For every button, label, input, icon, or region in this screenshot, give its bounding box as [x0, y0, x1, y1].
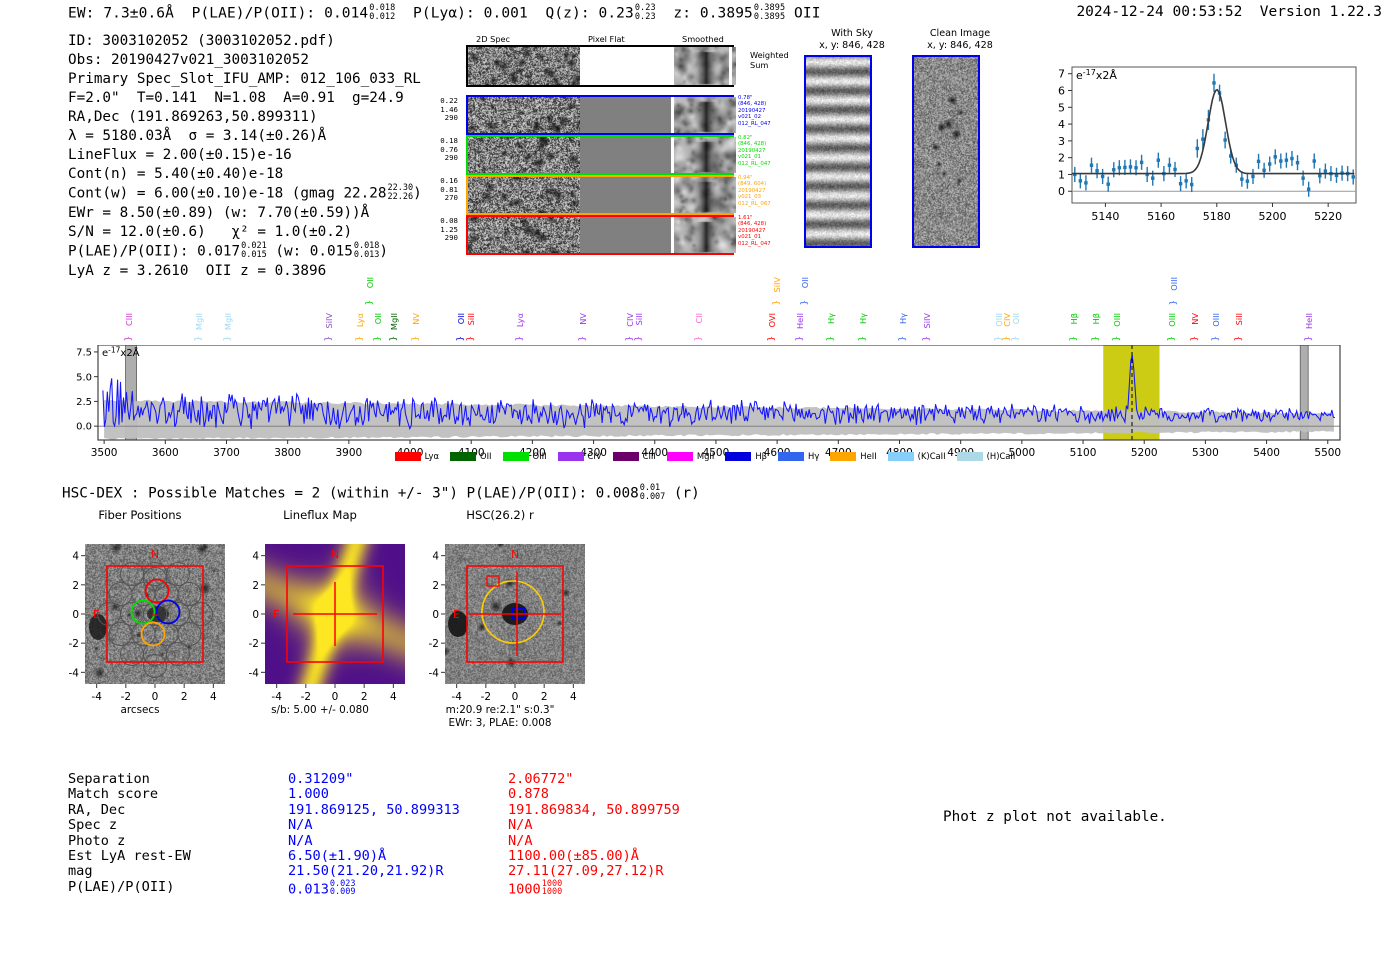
panel-image: -4-2024420-2-4NE	[235, 522, 415, 708]
header-z-lo: 0.3895	[754, 12, 785, 22]
legend-swatch	[558, 452, 584, 461]
full-spectrum-plot: CIII}MgII}MgII}SiIV}Lyα}OII}OII}MgII}NV}…	[60, 275, 1350, 475]
line-brace-icon: }	[355, 336, 365, 341]
hsc-summary-pre: HSC-DEX : Possible Matches = 2 (within +…	[62, 486, 639, 502]
svg-text:4: 4	[72, 551, 79, 563]
montage-row-info-4: 012_RL_047	[738, 161, 784, 167]
info-cont-w-text: Cont(w) = 6.00(±0.10)e-18 (gmag 22.28	[68, 186, 386, 202]
svg-text:-2: -2	[249, 638, 259, 650]
cutout-coords: x, y: 846, 428	[900, 40, 1020, 52]
legend-swatch	[613, 452, 639, 461]
line-brace-icon: }	[124, 336, 134, 341]
line-label-oiii: OIII	[1211, 313, 1221, 327]
line-brace-icon: }	[772, 300, 782, 305]
line-label-oiii: OIII	[1167, 313, 1177, 327]
svg-text:0: 0	[432, 609, 439, 621]
table-row-key: RA, Dec	[68, 803, 125, 818]
spectrum-legend: LyαOIIOIIICIVCIIIMgIIHβHγHeII(K)CaII(H)C…	[60, 451, 1350, 461]
line-label-mgii: MgII	[389, 313, 399, 330]
row-pixelflat	[580, 97, 674, 133]
line-brace-icon: }	[389, 336, 399, 341]
twod-spectra-montage: 2D Spec Pixel Flat Smoothed Weighted Sum…	[430, 34, 800, 249]
line-brace-icon: }	[1190, 336, 1200, 341]
svg-text:5.0: 5.0	[76, 372, 92, 383]
svg-text:e-17x2Å: e-17x2Å	[1076, 68, 1117, 82]
table-row-match1: N/A	[288, 834, 313, 849]
table-row-match2: 1100.00(±85.00)Å	[508, 849, 639, 864]
line-label-nv: NV	[1190, 313, 1200, 325]
row-smoothed	[674, 137, 736, 173]
line-label-oiii: OIII	[1112, 313, 1122, 327]
table-c2-lo: 1000	[542, 887, 562, 897]
table-row-match1: 191.869125, 50.899313	[288, 803, 460, 818]
line-label-hγ: Hγ	[898, 313, 908, 324]
weighted-sum-divider	[671, 47, 674, 85]
line-brace-icon: }	[223, 336, 233, 341]
info-id: ID: 3003102052 (3003102052.pdf)	[68, 32, 422, 51]
svg-text:N: N	[151, 549, 159, 561]
svg-text:-2: -2	[121, 691, 131, 703]
line-label-oiii: OIII	[1169, 277, 1179, 291]
line-brace-icon: }	[1011, 336, 1021, 341]
legend-swatch	[888, 452, 914, 461]
montage-row-info: 0.78"(846, 428)20190427v021_02012_RL_047	[738, 95, 784, 127]
line-brace-icon: }	[515, 336, 525, 341]
header-qz-lo: 0.23	[635, 12, 656, 22]
svg-text:-2: -2	[301, 691, 311, 703]
legend-item: Hγ	[778, 451, 819, 461]
info-primary-spec: Primary Spec_Slot_IFU_AMP: 012_106_033_R…	[68, 70, 422, 89]
cutout-panels: Fiber Positions-4-2024420-2-4NEarcsecsLi…	[55, 508, 635, 733]
table-row-match1: 0.31209"	[288, 772, 353, 787]
header-z-type: OII	[794, 6, 821, 22]
line-label-hβ: Hβ	[1091, 313, 1101, 324]
cutout-title-text: With Sky	[792, 28, 912, 40]
row-pixelflat	[580, 137, 674, 173]
info-plae-w-lo: 0.013	[354, 250, 380, 260]
legend-item: MgII	[667, 451, 714, 461]
svg-text:5160: 5160	[1147, 210, 1175, 223]
line-label-heii: HeII	[795, 313, 805, 329]
legend-swatch	[503, 452, 529, 461]
row-2dspec	[468, 137, 580, 173]
montage-row	[466, 215, 734, 255]
line-label-ciii: CIII	[124, 313, 134, 326]
info-ewr: EWr = 8.50(±0.89) (w: 7.70(±0.59))Å	[68, 204, 422, 223]
svg-text:-4: -4	[271, 691, 282, 703]
svg-text:0: 0	[72, 609, 79, 621]
svg-text:-4: -4	[91, 691, 102, 703]
legend-label: (H)CaII	[987, 451, 1016, 461]
svg-text:2: 2	[252, 580, 259, 592]
table-row-match2: 191.869834, 50.899759	[508, 803, 680, 818]
legend-swatch	[395, 452, 421, 461]
legend-swatch	[957, 452, 983, 461]
emission-line-zoom-plot: 5140516051805200522001234567e-17x2Å	[1030, 45, 1370, 245]
montage-row-stat-2: 270	[432, 194, 458, 203]
weighted-sum-right-divider	[729, 47, 732, 85]
svg-text:0.0: 0.0	[76, 422, 92, 433]
header-qz-label: Q(z):	[546, 6, 590, 22]
row-divider	[671, 177, 674, 213]
version: Version 1.22.3	[1260, 4, 1382, 20]
montage-row-info-4: 012_RL_067	[738, 201, 784, 207]
montage-row-stat-2: 290	[432, 234, 458, 243]
montage-row-info: 0.94"(849, 604)20190427v021_03012_RL_067	[738, 175, 784, 207]
info-radec: RA,Dec (191.869263,50.899311)	[68, 108, 422, 127]
panel-caption-line1: s/b: 5.00 +/- 0.080	[235, 704, 405, 717]
weighted-sum-smoothed	[674, 47, 736, 85]
panel-caption-line1: m:20.9 re:2.1" s:0.3"	[415, 704, 585, 717]
line-brace-icon: }	[826, 336, 836, 341]
line-label-siiv: SiIV	[324, 313, 334, 329]
svg-text:5180: 5180	[1203, 210, 1231, 223]
line-label-ovi: OVI	[767, 313, 777, 327]
cutout-title-text: Clean Image	[900, 28, 1020, 40]
row-smoothed	[674, 97, 736, 133]
legend-label: MgII	[697, 451, 714, 461]
line-label-hγ: Hγ	[826, 313, 836, 324]
row-2dspec	[468, 177, 580, 213]
info-lambda-sigma: λ = 5180.03Å σ = 3.14(±0.26)Å	[68, 127, 422, 146]
svg-text:2.5: 2.5	[76, 397, 92, 408]
table-row-match2: 2.06772"	[508, 772, 573, 787]
montage-row-info: 1.61"(846, 428)20190427v021_01012_RL_047	[738, 215, 784, 247]
montage-row-stat-2: 290	[432, 154, 458, 163]
table-row-match2: 0.878	[508, 787, 549, 802]
line-brace-icon: }	[858, 336, 868, 341]
svg-text:7: 7	[1058, 68, 1065, 81]
svg-text:2: 2	[72, 580, 79, 592]
line-label-hγ: Hγ	[858, 313, 868, 324]
hsc-dex-summary: HSC-DEX : Possible Matches = 2 (within +…	[62, 484, 700, 502]
photz-note: Phot z plot not available.	[943, 809, 1167, 825]
table-row-match1: 21.50(21.20,21.92)R	[288, 864, 444, 879]
line-label-siii: SiII	[1234, 313, 1244, 325]
line-label-cii: CII	[694, 313, 704, 324]
svg-text:-2: -2	[481, 691, 491, 703]
montage-row-info-4: 012_RL_047	[738, 241, 784, 247]
legend-item: OIII	[503, 451, 547, 461]
line-brace-icon: }	[456, 336, 466, 341]
svg-text:2: 2	[1058, 152, 1065, 165]
info-params: F=2.0" T=0.141 N=1.08 A=0.91 g=24.9	[68, 89, 422, 108]
line-brace-icon: }	[795, 336, 805, 341]
info-plae-pre: P(LAE)/P(OII): 0.017	[68, 244, 240, 260]
panel-title: Fiber Positions	[55, 508, 225, 522]
svg-text:5: 5	[1058, 101, 1065, 114]
line-label-lyα: Lyα	[515, 313, 525, 327]
line-brace-icon: }	[324, 336, 334, 341]
svg-text:2: 2	[541, 691, 548, 703]
montage-weighted-sum-label: Weighted Sum	[750, 51, 789, 70]
legend-label: OIII	[533, 451, 547, 461]
panel-image: -4-2024420-2-4NE	[55, 522, 235, 708]
line-brace-icon: }	[1112, 336, 1122, 341]
montage-row	[466, 95, 734, 135]
row-smoothed	[674, 217, 736, 253]
table-row-key: mag	[68, 864, 93, 879]
legend-label: CIII	[643, 451, 656, 461]
info-gmag-lo: 22.26	[387, 192, 413, 202]
line-label-mgii: MgII	[223, 313, 233, 330]
svg-text:e-17x2Å: e-17x2Å	[102, 346, 140, 360]
line-brace-icon: }	[365, 300, 375, 305]
legend-label: Hβ	[755, 451, 767, 461]
montage-row-stat-2: 290	[432, 114, 458, 123]
header-plya: P(Lyα): 0.001	[413, 6, 528, 22]
panel-title: Lineflux Map	[235, 508, 405, 522]
header-qz-value: 0.23	[599, 6, 634, 22]
legend-item: CIII	[613, 451, 656, 461]
svg-text:N: N	[331, 549, 339, 561]
line-brace-icon: }	[411, 336, 421, 341]
table-row-match1: 6.50(±1.90)Å	[288, 849, 386, 864]
line-brace-icon: }	[194, 336, 204, 341]
legend-label: Hγ	[808, 451, 819, 461]
legend-item: OII	[450, 451, 492, 461]
header-summary: EW: 7.3±0.6Å P(LAE)/P(OII): 0.0140.0180.…	[68, 4, 821, 22]
cutout-coords: x, y: 846, 428	[792, 40, 912, 52]
weighted-sum-line2: Sum	[750, 61, 789, 71]
montage-row-info-4: 012_RL_047	[738, 121, 784, 127]
line-label-oii: OII	[365, 277, 375, 288]
montage-col-pixelflat: Pixel Flat	[588, 34, 625, 44]
header-plae-lo: 0.012	[369, 12, 395, 22]
line-brace-icon: }	[1234, 336, 1244, 341]
info-plae-lo: 0.015	[241, 250, 267, 260]
info-lineflux: LineFlux = 2.00(±0.15)e-16	[68, 146, 422, 165]
row-pixelflat	[580, 217, 674, 253]
legend-item: CIV	[558, 451, 602, 461]
svg-text:-4: -4	[249, 667, 260, 679]
legend-label: OII	[480, 451, 492, 461]
info-plae-post: )	[379, 244, 388, 260]
panel-image: -4-2024420-2-4NE	[415, 522, 595, 708]
montage-weighted-sum-row	[466, 45, 734, 87]
row-2dspec	[468, 217, 580, 253]
svg-text:-2: -2	[429, 638, 439, 650]
montage-row	[466, 135, 734, 175]
cutout-image	[912, 55, 980, 248]
legend-swatch	[667, 452, 693, 461]
line-label-siii: SiII	[634, 313, 644, 325]
info-plae-mid: (w: 0.015	[275, 244, 352, 260]
legend-item: Lyα	[395, 451, 439, 461]
legend-item: Hβ	[725, 451, 767, 461]
svg-text:E: E	[93, 609, 100, 621]
timestamp: 2024-12-24 00:53:52	[1076, 4, 1242, 20]
object-info-block: ID: 3003102052 (3003102052.pdf) Obs: 201…	[68, 32, 422, 281]
cutout-image	[804, 55, 872, 248]
panel-caption-line2: EWr: 3, PLAE: 0.008	[415, 717, 585, 730]
panel-caption: s/b: 5.00 +/- 0.080	[235, 704, 405, 717]
legend-item: (H)CaII	[957, 451, 1016, 461]
legend-item: (K)CaII	[888, 451, 946, 461]
hsc-summary-post: (r)	[674, 486, 700, 502]
table-c1-lo: 0.009	[330, 887, 356, 897]
table-row-key: Est LyA rest-EW	[68, 849, 191, 864]
legend-item: HeII	[830, 451, 876, 461]
line-brace-icon: }	[898, 336, 908, 341]
legend-swatch	[830, 452, 856, 461]
montage-row-stats: 0.180.76290	[432, 137, 458, 163]
svg-text:5200: 5200	[1258, 210, 1286, 223]
line-brace-icon: }	[634, 336, 644, 341]
table-row-key: P(LAE)/P(OII)	[68, 880, 174, 895]
svg-text:N: N	[511, 549, 519, 561]
svg-text:1: 1	[1058, 168, 1065, 181]
table-row-match1: N/A	[288, 818, 313, 833]
line-label-nv: NV	[578, 313, 588, 325]
sky-cutouts: With Skyx, y: 846, 428Clean Imagex, y: 8…	[800, 28, 1030, 253]
header-timestamp-version: 2024-12-24 00:53:52 Version 1.22.3	[1076, 4, 1382, 20]
cutout-title: Clean Imagex, y: 846, 428	[900, 28, 1020, 51]
line-label-lyα: Lyα	[355, 313, 365, 327]
info-cont-n: Cont(n) = 5.40(±0.40)e-18	[68, 165, 422, 184]
svg-text:-4: -4	[69, 667, 80, 679]
svg-text:7.5: 7.5	[76, 348, 92, 359]
line-label-siiv: SiIV	[922, 313, 932, 329]
line-brace-icon: }	[466, 336, 476, 341]
table-row-key: Spec z	[68, 818, 117, 833]
line-brace-icon: }	[578, 336, 588, 341]
svg-text:6: 6	[1058, 85, 1065, 98]
svg-text:4: 4	[570, 691, 577, 703]
info-obs: Obs: 20190427v021_3003102052	[68, 51, 422, 70]
info-cont-w: Cont(w) = 6.00(±0.10)e-18 (gmag 22.2822.…	[68, 184, 422, 204]
table-row-match2: N/A	[508, 834, 533, 849]
svg-text:0: 0	[332, 691, 339, 703]
svg-text:0: 0	[512, 691, 519, 703]
row-divider	[671, 137, 674, 173]
svg-text:-4: -4	[451, 691, 462, 703]
legend-label: CIV	[588, 451, 602, 461]
table-row-match2: 100010001000	[508, 880, 562, 898]
line-brace-icon: }	[800, 300, 810, 305]
montage-row-stats: 0.160.81270	[432, 177, 458, 203]
svg-text:0: 0	[152, 691, 159, 703]
table-row-key: Photo z	[68, 834, 125, 849]
svg-text:4: 4	[432, 551, 439, 563]
table-row-key: Match score	[68, 787, 158, 802]
svg-text:E: E	[273, 609, 280, 621]
legend-swatch	[725, 452, 751, 461]
line-label-oii: OII	[1011, 313, 1021, 324]
legend-swatch	[450, 452, 476, 461]
header-plae-value: 0.014	[324, 6, 368, 22]
svg-text:0: 0	[1058, 185, 1065, 198]
svg-text:2: 2	[432, 580, 439, 592]
line-brace-icon: }	[922, 336, 932, 341]
line-label-siii: SiII	[466, 313, 476, 325]
legend-label: (K)CaII	[918, 451, 946, 461]
line-label-oii: OII	[456, 313, 466, 324]
header-ew: EW: 7.3±0.6Å	[68, 6, 174, 22]
table-row-match1: 0.0130.0230.009	[288, 880, 356, 898]
svg-text:2: 2	[361, 691, 368, 703]
emission-line-labels: CIII}MgII}MgII}SiIV}Lyα}OII}OII}MgII}NV}…	[60, 275, 1350, 345]
line-brace-icon: }	[767, 336, 777, 341]
svg-text:-2: -2	[69, 638, 79, 650]
header-plae-label: P(LAE)/P(OII):	[192, 6, 316, 22]
line-label-oii: OII	[373, 313, 383, 324]
svg-text:-4: -4	[429, 667, 440, 679]
line-label-siiv: SiIV	[772, 277, 782, 293]
table-row-match2: 27.11(27.09,27.12)R	[508, 864, 664, 879]
panel-caption: arcsecs	[55, 704, 225, 717]
line-label-hβ: Hβ	[1069, 313, 1079, 324]
info-plae: P(LAE)/P(OII): 0.0170.0210.015 (w: 0.015…	[68, 242, 422, 262]
line-brace-icon: }	[1091, 336, 1101, 341]
svg-text:5140: 5140	[1091, 210, 1119, 223]
row-2dspec	[468, 97, 580, 133]
svg-text:5220: 5220	[1314, 210, 1342, 223]
info-cont-w-close: )	[413, 186, 422, 202]
line-brace-icon: }	[694, 336, 704, 341]
spectrum-axes: e-17x2Å0.02.55.07.5350036003700380039004…	[60, 345, 1350, 464]
legend-label: Lyα	[425, 451, 439, 461]
header-z-value: 0.3895	[700, 6, 753, 22]
montage-row-stats: 0.081.25290	[432, 217, 458, 243]
row-divider	[671, 97, 674, 133]
table-row-match1: 1.000	[288, 787, 329, 802]
panel-caption-line1: arcsecs	[55, 704, 225, 717]
legend-label: HeII	[860, 451, 876, 461]
line-brace-icon: }	[1304, 336, 1314, 341]
line-brace-icon: }	[1169, 300, 1179, 305]
line-label-heii: HeII	[1304, 313, 1314, 329]
panel-caption: m:20.9 re:2.1" s:0.3"EWr: 3, PLAE: 0.008	[415, 704, 585, 730]
line-brace-icon: }	[373, 336, 383, 341]
svg-text:3: 3	[1058, 135, 1065, 148]
panel-title: HSC(26.2) r	[415, 508, 585, 522]
cutout-title: With Skyx, y: 846, 428	[792, 28, 912, 51]
weighted-sum-pixelflat	[580, 47, 674, 85]
row-divider	[671, 217, 674, 253]
line-label-oii: OII	[800, 277, 810, 288]
table-row-match2: N/A	[508, 818, 533, 833]
line-brace-icon: }	[1069, 336, 1079, 341]
montage-row-info: 0.82"(846, 428)20190427v021_01012_RL_047	[738, 135, 784, 167]
header-z-label: z:	[673, 6, 691, 22]
row-pixelflat	[580, 177, 674, 213]
legend-swatch	[778, 452, 804, 461]
svg-text:4: 4	[210, 691, 217, 703]
line-brace-icon: }	[1167, 336, 1177, 341]
svg-text:2: 2	[181, 691, 188, 703]
svg-text:E: E	[453, 609, 460, 621]
hsc-plae-lo: 0.007	[640, 492, 666, 502]
svg-text:4: 4	[252, 551, 259, 563]
montage-col-2dspec: 2D Spec	[476, 34, 510, 44]
svg-text:4: 4	[1058, 118, 1065, 131]
svg-text:4: 4	[390, 691, 397, 703]
info-sn-chi2: S/N = 12.0(±0.6) χ² = 1.0(±0.2)	[68, 223, 422, 242]
line-label-mgii: MgII	[194, 313, 204, 330]
montage-row	[466, 175, 734, 215]
row-smoothed	[674, 177, 736, 213]
weighted-sum-2dspec	[468, 47, 580, 85]
montage-col-smoothed: Smoothed	[682, 34, 724, 44]
line-brace-icon: }	[1211, 336, 1221, 341]
line-label-nv: NV	[411, 313, 421, 325]
svg-text:0: 0	[252, 609, 259, 621]
montage-row-stats: 0.221.46290	[432, 97, 458, 123]
table-row-key: Separation	[68, 772, 150, 787]
